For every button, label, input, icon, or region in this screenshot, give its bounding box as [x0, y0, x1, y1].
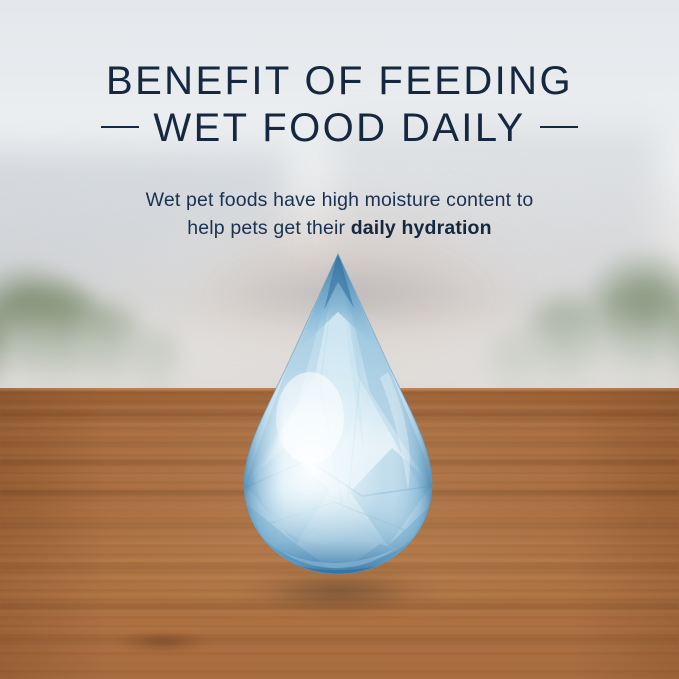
droplet-body [238, 252, 438, 576]
page-title-line-2: WET FOOD DAILY [0, 105, 679, 152]
poster-canvas: BENEFIT OF FEEDING WET FOOD DAILY Wet pe… [0, 0, 679, 679]
page-subtitle-line-1: Wet pet foods have high moisture content… [146, 189, 534, 211]
page-subtitle-line-2-prefix: help pets get their [187, 217, 350, 239]
page-title-line-2-text: WET FOOD DAILY [153, 106, 525, 150]
water-droplet-icon [238, 252, 438, 576]
rule-right-icon [540, 126, 578, 128]
page-subtitle-emphasis: daily hydration [351, 217, 492, 239]
page-title-line-1: BENEFIT OF FEEDING [106, 59, 573, 103]
page-subtitle: Wet pet foods have high moisture content… [0, 186, 679, 242]
page-title: BENEFIT OF FEEDING WET FOOD DAILY [0, 58, 679, 152]
rule-left-icon [101, 126, 139, 128]
